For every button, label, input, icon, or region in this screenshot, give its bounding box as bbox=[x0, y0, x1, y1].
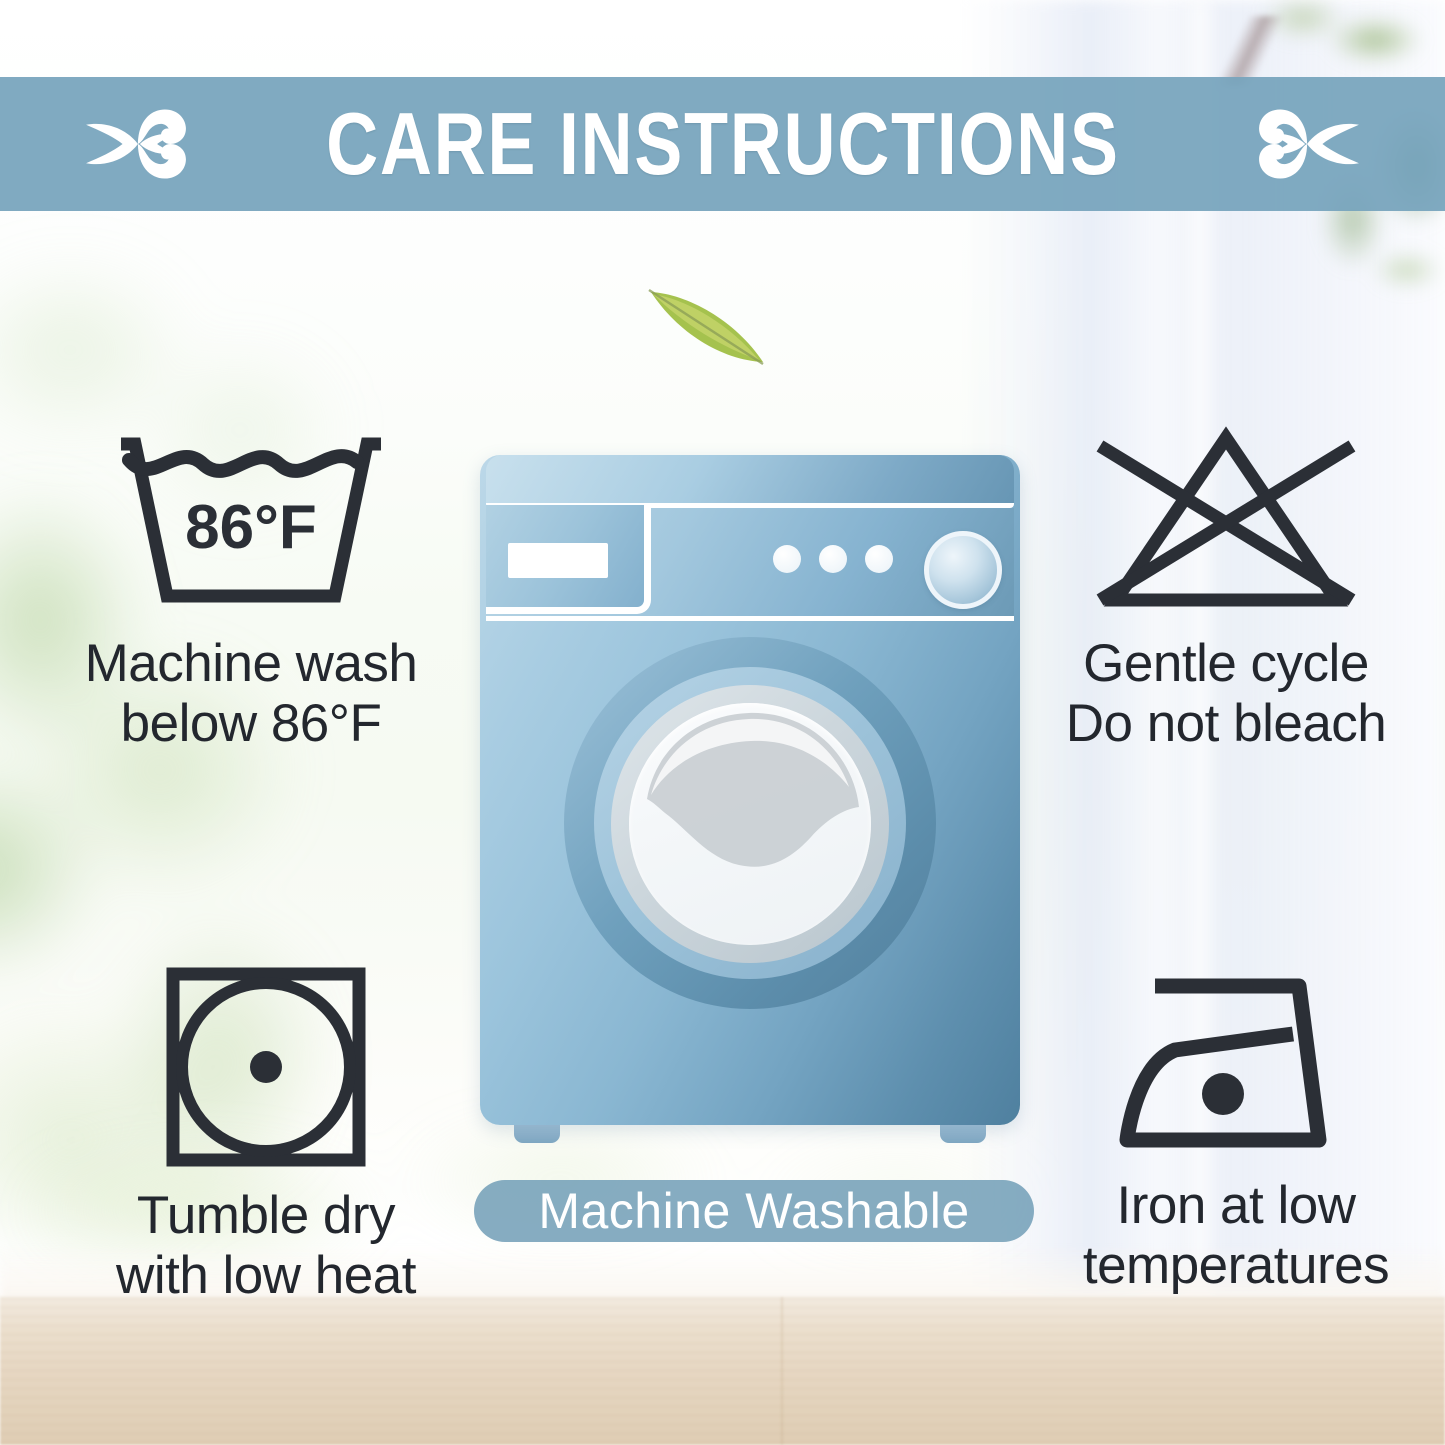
wash-tub-icon-wrap: 86°F bbox=[105, 420, 397, 620]
machine-top-lid bbox=[486, 455, 1014, 508]
door-glass-shading bbox=[629, 703, 871, 945]
tumble-dry-low-icon bbox=[161, 962, 371, 1172]
machine-door-glass bbox=[629, 703, 871, 945]
care-label-machine-wash: Machine wash below 86°F bbox=[85, 634, 418, 754]
care-instructions-infographic: CARE INSTRUCTIONS 86°F Machine wash belo… bbox=[0, 0, 1445, 1445]
background-wood-seam bbox=[781, 1297, 783, 1445]
care-label-iron-low: Iron at low temperatures bbox=[1083, 1176, 1389, 1296]
machine-washable-badge-text: Machine Washable bbox=[538, 1186, 969, 1236]
iron-one-dot-icon bbox=[1113, 962, 1359, 1162]
wash-tub-icon: 86°F bbox=[105, 420, 397, 620]
falling-leaf-icon bbox=[643, 276, 775, 372]
washing-machine-illustration bbox=[480, 455, 1020, 1125]
indicator-light bbox=[773, 545, 801, 573]
care-symbol-tumble-dry: Tumble dry with low heat bbox=[66, 962, 466, 1306]
indicator-light bbox=[865, 545, 893, 573]
care-label-do-not-bleach: Gentle cycle Do not bleach bbox=[1066, 634, 1387, 754]
indicator-light bbox=[819, 545, 847, 573]
care-label-tumble-dry: Tumble dry with low heat bbox=[116, 1186, 416, 1306]
fleur-de-lis-icon-right bbox=[1250, 96, 1368, 192]
control-indicator-lights bbox=[773, 545, 893, 573]
fleur-de-lis-icon-left bbox=[77, 96, 195, 192]
background-wooden-table bbox=[0, 1297, 1445, 1445]
tumble-dry-icon-wrap bbox=[161, 962, 371, 1172]
crossed-triangle-icon bbox=[1086, 420, 1366, 620]
care-symbol-machine-wash: 86°F Machine wash below 86°F bbox=[36, 420, 466, 754]
detergent-drawer-slot bbox=[508, 543, 608, 578]
control-dial-knob bbox=[924, 531, 1002, 609]
iron-icon-wrap bbox=[1113, 962, 1359, 1162]
care-symbol-iron-low: Iron at low temperatures bbox=[1036, 962, 1436, 1296]
header-banner: CARE INSTRUCTIONS bbox=[0, 77, 1445, 211]
background-branch bbox=[1175, 16, 1325, 86]
wash-temperature-value: 86°F bbox=[185, 493, 317, 562]
crossed-triangle-icon-wrap bbox=[1086, 420, 1366, 620]
page-title: CARE INSTRUCTIONS bbox=[326, 100, 1120, 188]
care-symbol-do-not-bleach: Gentle cycle Do not bleach bbox=[1016, 420, 1436, 754]
machine-washable-badge: Machine Washable bbox=[474, 1180, 1034, 1242]
detergent-drawer bbox=[486, 505, 651, 614]
